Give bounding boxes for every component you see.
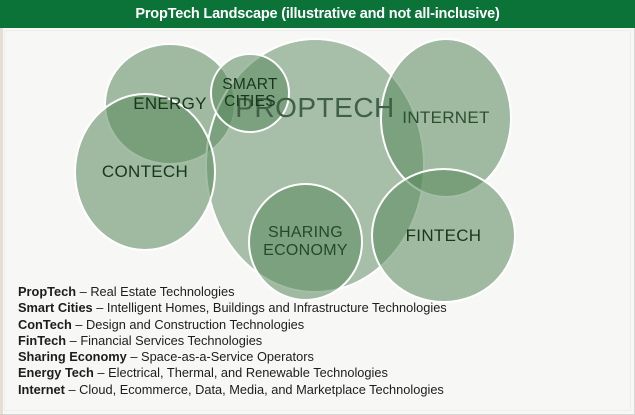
legend-item-dash: – [65,382,79,397]
legend-item-dash: – [94,365,108,380]
legend-item-term: PropTech [18,284,76,299]
legend: PropTech – Real Estate TechnologiesSmart… [18,284,618,398]
legend-item-dash: – [72,317,86,332]
legend-item: ConTech – Design and Construction Techno… [18,317,618,333]
venn-label-fintech: FINTECH [406,226,482,245]
legend-item: Smart Cities – Intelligent Homes, Buildi… [18,300,618,316]
legend-item-definition: Financial Services Technologies [80,333,262,348]
legend-item-term: FinTech [18,333,66,348]
venn-label-sharing-economy: SHARING ECONOMY [263,224,348,260]
proptech-landscape-figure: PropTech Landscape (illustrative and not… [0,0,635,415]
venn-diagram: ENERGY PROPTECH CONTECH SMART CITIES SHA… [0,28,635,278]
legend-item-dash: – [93,300,107,315]
legend-item-dash: – [127,349,141,364]
venn-label-energy: ENERGY [133,94,207,113]
venn-label-contech: CONTECH [102,162,188,181]
legend-item-term: ConTech [18,317,72,332]
legend-item-definition: Space-as-a-Service Operators [141,349,314,364]
legend-item: PropTech – Real Estate Technologies [18,284,618,300]
legend-item: FinTech – Financial Services Technologie… [18,333,618,349]
legend-item-dash: – [66,333,80,348]
venn-label-smart-cities: SMART CITIES [222,76,277,111]
legend-item-dash: – [76,284,90,299]
legend-item-definition: Cloud, Ecommerce, Data, Media, and Marke… [79,382,444,397]
legend-item-term: Energy Tech [18,365,94,380]
figure-header-bar: PropTech Landscape (illustrative and not… [0,0,635,28]
venn-label-internet: INTERNET [402,108,489,127]
venn-circle-contech: CONTECH [74,93,216,251]
legend-item-definition: Real Estate Technologies [90,284,234,299]
legend-item-term: Sharing Economy [18,349,127,364]
legend-item: Energy Tech – Electrical, Thermal, and R… [18,365,618,381]
legend-item-term: Smart Cities [18,300,93,315]
venn-circle-fintech: FINTECH [371,168,516,303]
legend-item: Sharing Economy – Space-as-a-Service Ope… [18,349,618,365]
legend-item-definition: Design and Construction Technologies [86,317,304,332]
legend-item-definition: Electrical, Thermal, and Renewable Techn… [108,365,388,380]
legend-item: Internet – Cloud, Ecommerce, Data, Media… [18,382,618,398]
legend-item-term: Internet [18,382,65,397]
figure-title: PropTech Landscape (illustrative and not… [135,6,499,22]
legend-item-definition: Intelligent Homes, Buildings and Infrast… [107,300,447,315]
